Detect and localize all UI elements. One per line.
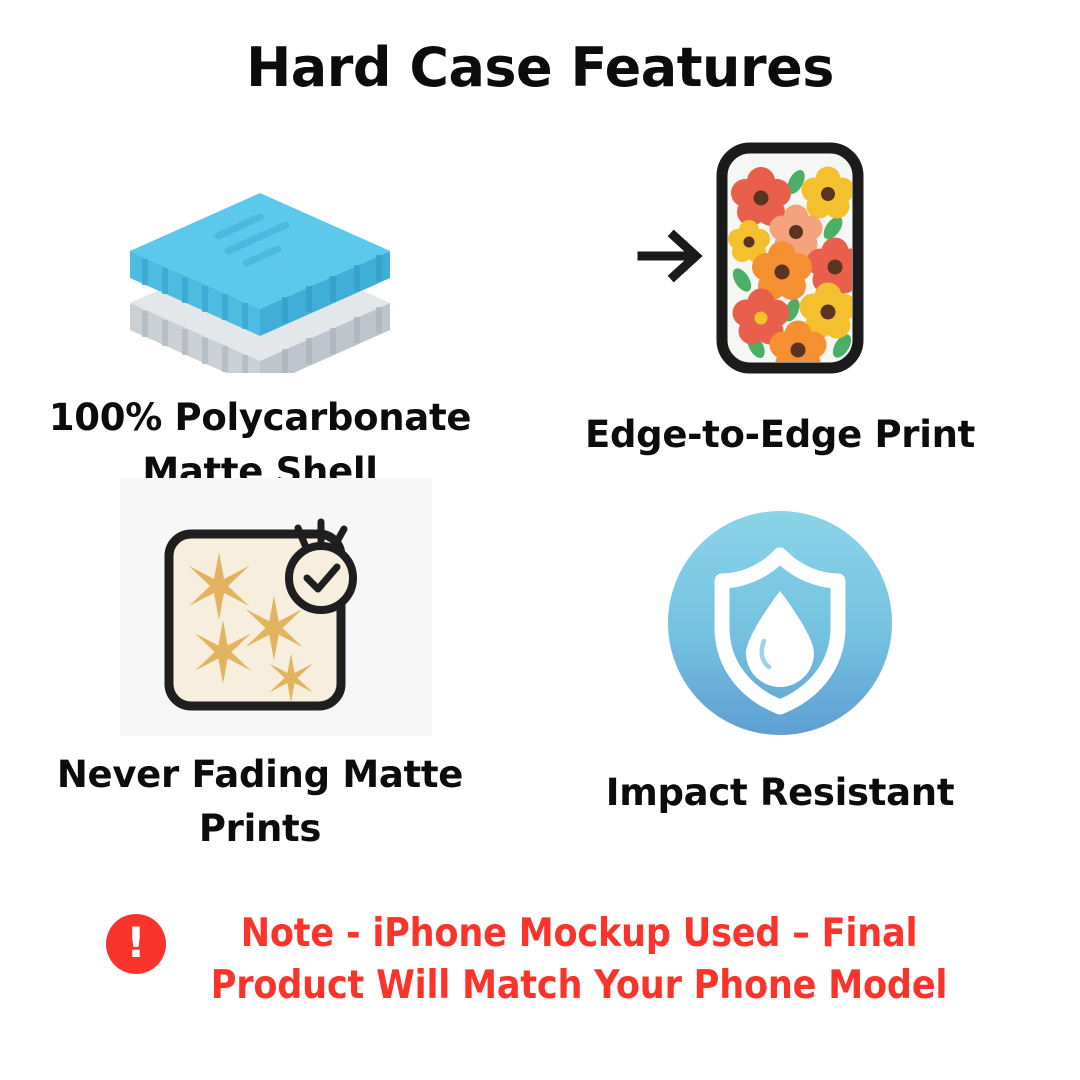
- feature-edge-print-caption: Edge-to-Edge Print: [540, 408, 1020, 462]
- disclaimer-note-text: Note - iPhone Mockup Used – Final Produc…: [184, 908, 974, 1012]
- layered-slab-icon: [110, 153, 410, 373]
- feature-edge-print: Edge-to-Edge Print: [540, 128, 1020, 462]
- sparkle-panel-check-icon: [135, 482, 385, 732]
- feature-polycarbonate: 100% Polycarbonate Matte Shell: [20, 150, 500, 498]
- shield-droplet-icon: [668, 511, 892, 735]
- phone-case-body: [722, 148, 864, 377]
- feature-never-fading: Never Fading Matte Prints: [20, 478, 500, 855]
- exclamation-badge-icon: !: [106, 914, 166, 974]
- feature-never-fading-caption: Never Fading Matte Prints: [20, 748, 500, 855]
- feature-never-fading-art: [20, 478, 500, 736]
- feature-polycarbonate-art: [20, 150, 500, 375]
- exclamation-mark: !: [126, 922, 145, 964]
- page-title: Hard Case Features: [0, 36, 1080, 99]
- disclaimer-note: ! Note - iPhone Mockup Used – Final Prod…: [0, 908, 1080, 1012]
- floral-phone-case-icon: [630, 132, 930, 382]
- arrow-right-icon: [642, 236, 696, 276]
- feature-impact-art: [540, 508, 1020, 738]
- feature-impact: Impact Resistant: [540, 508, 1020, 820]
- check-circle-badge-icon: [289, 522, 353, 610]
- feature-impact-caption: Impact Resistant: [540, 766, 1020, 820]
- feature-edge-print-art: [540, 128, 1020, 386]
